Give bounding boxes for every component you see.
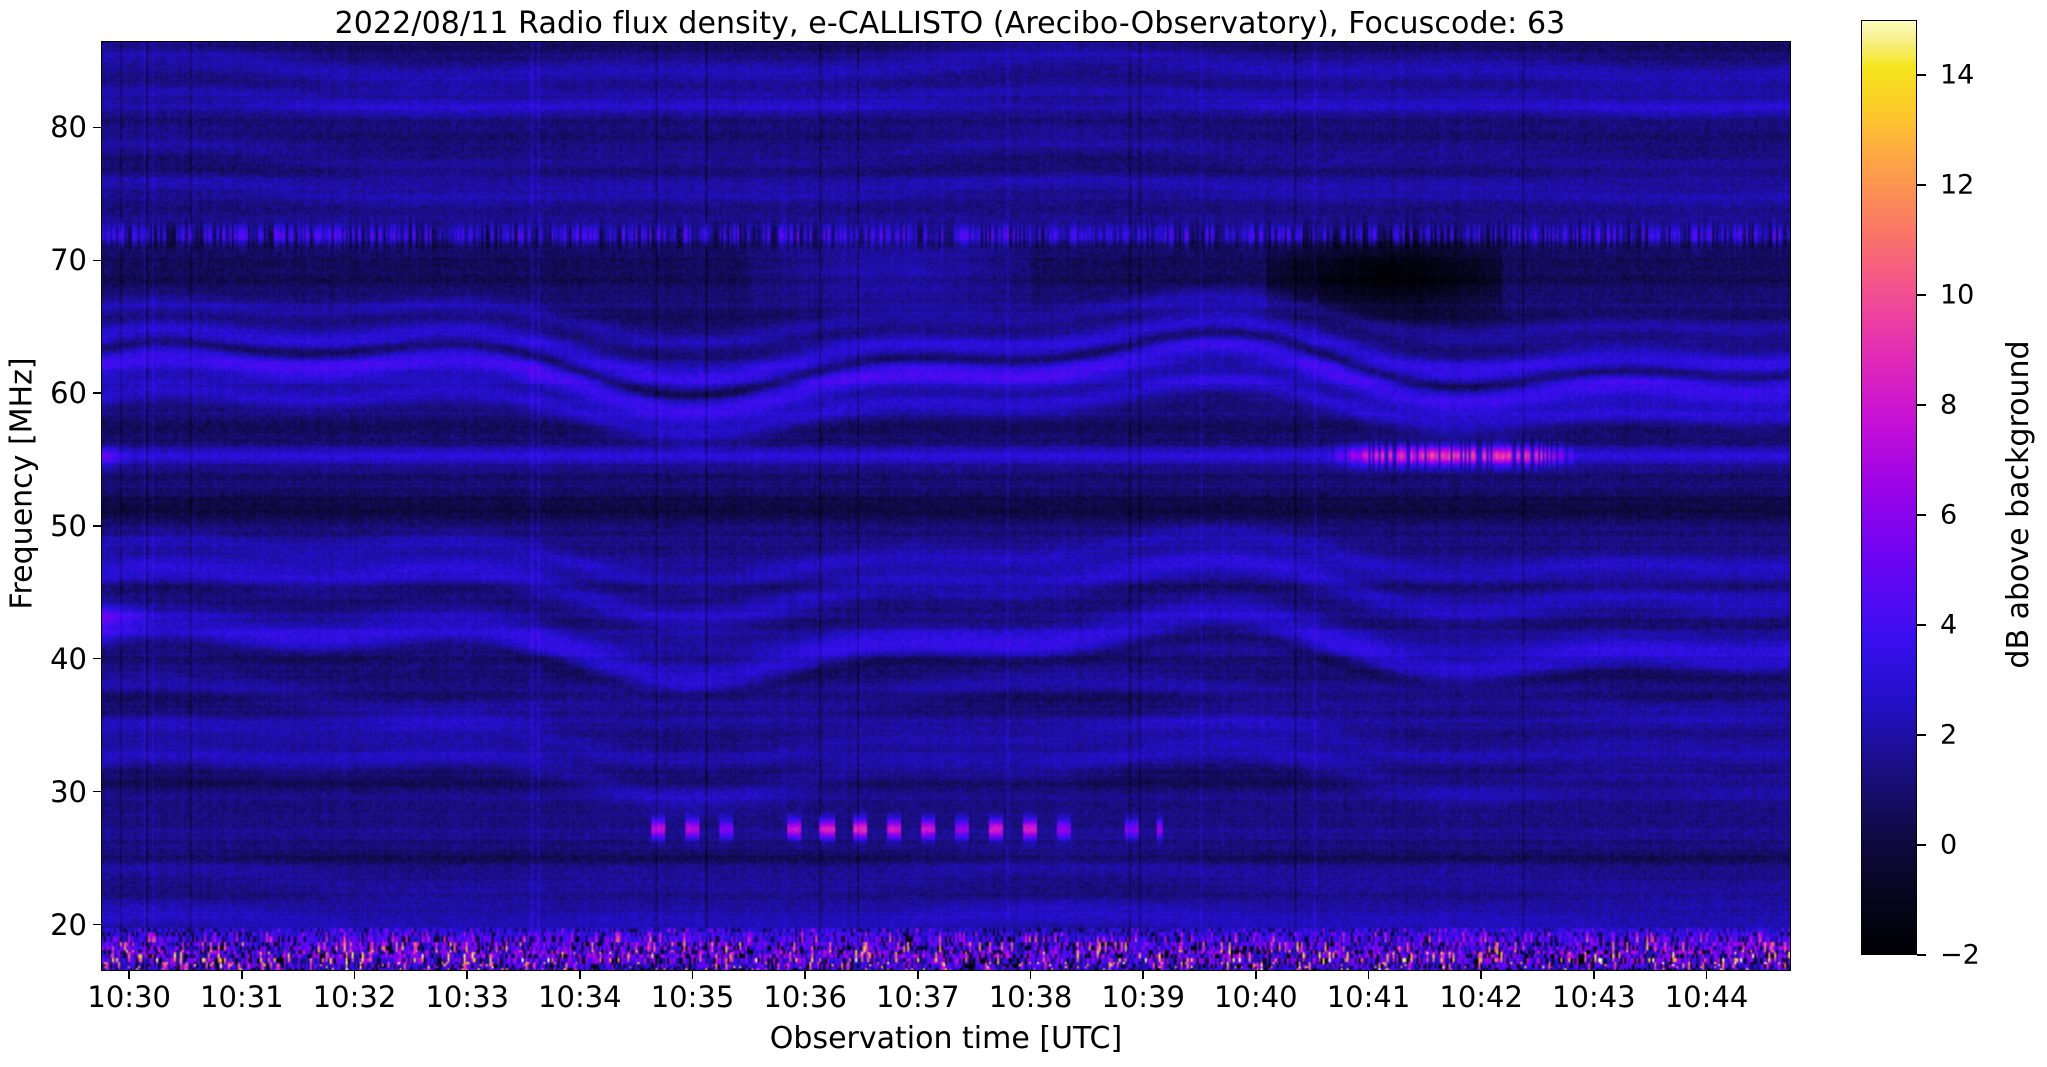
colorbar — [1861, 20, 1917, 955]
y-tick-label: 30 — [50, 775, 87, 809]
x-tick-mark — [354, 971, 355, 979]
spectrogram-image — [102, 42, 1790, 970]
x-tick-mark — [466, 971, 467, 979]
x-tick-mark — [1480, 971, 1481, 979]
x-tick-label: 10:39 — [1101, 980, 1185, 1014]
colorbar-tick-label: −2 — [1940, 940, 1980, 971]
colorbar-tick-label: 2 — [1940, 720, 1957, 751]
x-tick-label: 10:34 — [538, 980, 622, 1014]
colorbar-tick-mark — [1917, 954, 1926, 955]
colorbar-tick-label: 8 — [1940, 390, 1957, 421]
colorbar-tick-mark — [1917, 404, 1926, 405]
x-tick-label: 10:32 — [313, 980, 397, 1014]
colorbar-tick-label: 6 — [1940, 500, 1957, 531]
y-tick-mark — [93, 127, 101, 128]
spectrogram-plot-area — [101, 41, 1791, 971]
colorbar-tick-label: 4 — [1940, 610, 1957, 641]
y-tick-label: 40 — [50, 642, 87, 676]
x-tick-mark — [692, 971, 693, 979]
colorbar-tick-label: 12 — [1940, 170, 1974, 201]
x-tick-label: 10:38 — [989, 980, 1073, 1014]
colorbar-tick-mark — [1917, 74, 1926, 75]
figure-title: 2022/08/11 Radio flux density, e-CALLIST… — [100, 6, 1800, 41]
colorbar-tick-mark — [1917, 294, 1926, 295]
x-axis-label: Observation time [UTC] — [101, 1021, 1791, 1056]
x-tick-mark — [1255, 971, 1256, 979]
y-tick-mark — [93, 392, 101, 393]
y-tick-label: 80 — [50, 110, 87, 144]
y-tick-label: 60 — [50, 376, 87, 410]
x-tick-label: 10:37 — [876, 980, 960, 1014]
y-tick-mark — [93, 525, 101, 526]
y-tick-mark — [93, 791, 101, 792]
y-tick-label: 20 — [50, 908, 87, 942]
x-tick-mark — [579, 971, 580, 979]
colorbar-tick-label: 0 — [1940, 830, 1957, 861]
y-tick-mark — [93, 924, 101, 925]
x-tick-label: 10:30 — [87, 980, 171, 1014]
x-tick-label: 10:41 — [1327, 980, 1411, 1014]
y-tick-label: 50 — [50, 509, 87, 543]
x-tick-label: 10:33 — [425, 980, 509, 1014]
spectrogram-figure: 2022/08/11 Radio flux density, e-CALLIST… — [0, 0, 2047, 1067]
x-tick-label: 10:31 — [200, 980, 284, 1014]
x-tick-label: 10:42 — [1439, 980, 1523, 1014]
x-tick-mark — [241, 971, 242, 979]
colorbar-label: dB above background — [2001, 37, 2036, 972]
x-tick-label: 10:44 — [1665, 980, 1749, 1014]
colorbar-tick-label: 10 — [1940, 280, 1974, 311]
x-tick-mark — [1142, 971, 1143, 979]
x-tick-mark — [804, 971, 805, 979]
colorbar-tick-mark — [1917, 734, 1926, 735]
x-tick-label: 10:35 — [651, 980, 735, 1014]
x-tick-mark — [1706, 971, 1707, 979]
y-axis-label: Frequency [MHz] — [5, 19, 40, 949]
colorbar-tick-mark — [1917, 844, 1926, 845]
x-tick-label: 10:36 — [763, 980, 847, 1014]
x-tick-mark — [1368, 971, 1369, 979]
y-tick-mark — [93, 658, 101, 659]
y-tick-mark — [93, 260, 101, 261]
x-tick-mark — [1030, 971, 1031, 979]
colorbar-tick-mark — [1917, 514, 1926, 515]
colorbar-tick-mark — [1917, 184, 1926, 185]
x-tick-mark — [128, 971, 129, 979]
colorbar-tick-mark — [1917, 624, 1926, 625]
x-tick-mark — [917, 971, 918, 979]
x-tick-label: 10:40 — [1214, 980, 1298, 1014]
colorbar-tick-label: 14 — [1940, 60, 1974, 91]
y-tick-label: 70 — [50, 243, 87, 277]
x-tick-label: 10:43 — [1552, 980, 1636, 1014]
x-tick-mark — [1593, 971, 1594, 979]
